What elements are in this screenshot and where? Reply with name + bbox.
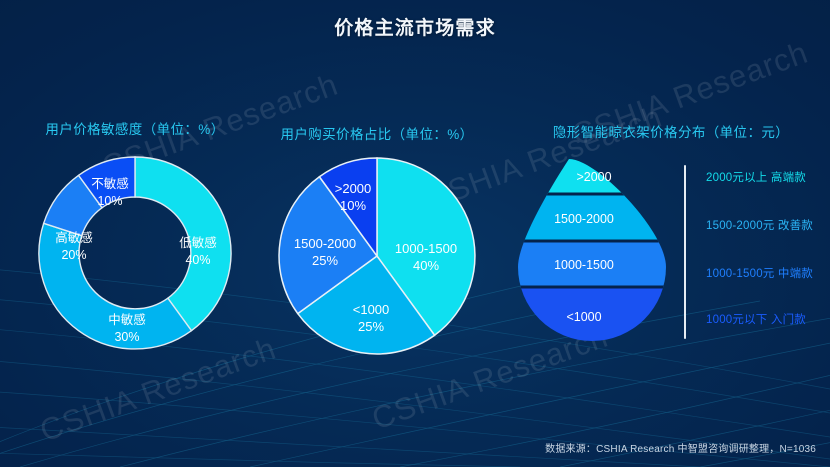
droplet-label-under-1000: <1000 xyxy=(566,310,601,324)
legend-item-improved[interactable]: 1500-2000元 改善款 xyxy=(706,217,813,233)
droplet-legend: 2000元以上 高端款 1500-2000元 改善款 1000-1500元 中端… xyxy=(684,161,830,341)
slide-title: 价格主流市场需求 xyxy=(0,13,830,40)
pie-label-1000-1500-value: 40% xyxy=(413,258,439,273)
donut-label-ins-value: 10% xyxy=(97,194,122,208)
data-source-footer: 数据来源：CSHIA Research 中智盟咨询调研整理，N=1036 xyxy=(545,440,816,455)
chart-title-purchase-price: 用户购买价格占比（单位：%） xyxy=(280,123,473,143)
droplet-label-over-2000: >2000 xyxy=(576,170,611,184)
chart-title-price-sensitivity: 用户价格敏感度（单位：%） xyxy=(45,118,224,138)
legend-item-entry[interactable]: 1000元以下 入门款 xyxy=(706,311,806,327)
pie-label-1000-1500-name: 1000-1500 xyxy=(395,241,457,256)
legend-item-mid-range[interactable]: 1000-1500元 中端款 xyxy=(706,265,813,281)
pie-label-over-2000-name: >2000 xyxy=(335,181,372,196)
chart-panel-price-distribution: 隐形智能晾衣架价格分布（单位：元） xyxy=(512,121,830,361)
donut-label-low-value: 40% xyxy=(185,253,210,267)
chart-title-price-distribution: 隐形智能晾衣架价格分布（单位：元） xyxy=(553,121,789,141)
donut-chart: 低敏感 40% 中敏感 30% 高敏感 20% 不敏感 10% xyxy=(10,146,260,366)
droplet-label-1000-1500: 1000-1500 xyxy=(554,258,614,272)
droplet-label-1500-2000: 1500-2000 xyxy=(554,212,614,226)
donut-label-low-name: 低敏感 xyxy=(179,235,217,250)
slide-root: CSHIA Research CSHIA Research CSHIA Rese… xyxy=(0,0,830,467)
pie-label-under-1000-name: <1000 xyxy=(353,302,390,317)
chart-panel-purchase-price: 用户购买价格占比（单位：%） 1000-1500 40% <1000 xyxy=(262,123,492,363)
donut-label-mid-value: 30% xyxy=(114,330,139,344)
pie-label-1500-2000-name: 1500-2000 xyxy=(294,236,356,251)
pie-chart: 1000-1500 40% <1000 25% 1500-2000 25% >2… xyxy=(262,151,492,366)
donut-label-mid-name: 中敏感 xyxy=(108,312,146,327)
chart-panel-price-sensitivity: 用户价格敏感度（单位：%） 低敏感 40% 中敏感 xyxy=(10,118,260,363)
legend-item-high-end[interactable]: 2000元以上 高端款 xyxy=(706,169,806,185)
donut-label-high-name: 高敏感 xyxy=(55,230,93,245)
pie-label-1500-2000-value: 25% xyxy=(312,253,338,268)
pie-label-under-1000-value: 25% xyxy=(358,319,384,334)
legend-divider-line xyxy=(684,165,686,339)
donut-label-high-value: 20% xyxy=(61,248,86,262)
pie-label-over-2000-value: 10% xyxy=(340,198,366,213)
donut-label-ins-name: 不敏感 xyxy=(91,176,129,191)
